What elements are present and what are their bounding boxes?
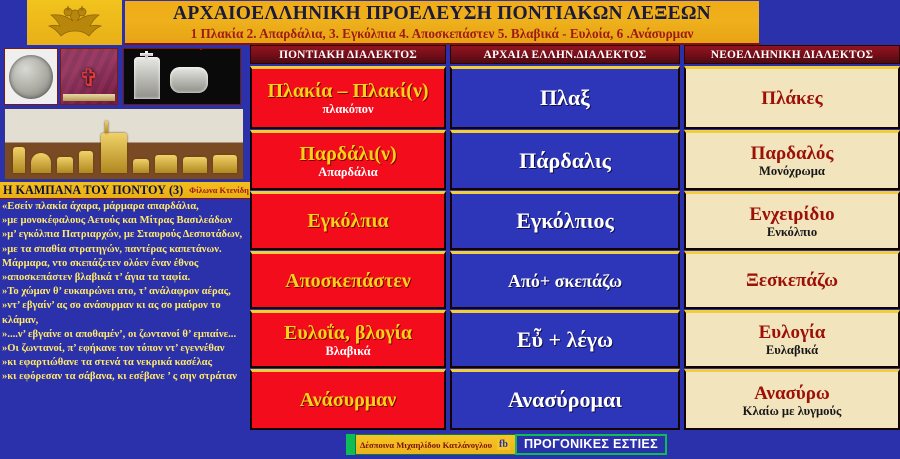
cell-main-term: Ανάσυρμαν [300,389,396,411]
cell-main-term: Ανασύρομαι [508,388,622,412]
table-cell-pontic: Εγκόλπια [250,191,446,250]
poem-author: Φίλωνα Κτενίδη [189,186,249,195]
cell-main-term: Παρδάλι(ν) [299,143,396,165]
table-cell-pontic: Ανάσυρμαν [250,369,446,430]
column-header-ancient-greek: ΑΡΧΑΙΑ ΕΛΛΗΝ.ΔΙΑΛΕΚΤΟΣ [450,45,680,64]
table-cell-pontic: Αποσκεπάστεν [250,251,446,309]
table-cell-ancient-greek: Εὖ + λέγω [450,310,680,368]
poem-line: »με μονοκέφαλους Αετούς και Μίτρας Βασιλ… [2,214,247,228]
relic-object [183,157,207,173]
facebook-icon[interactable]: fb [497,439,510,450]
page-title: ΑΡΧΑΙΟΕΛΛΗΝΙΚΗ ΠΡΟΕΛΕΥΣΗ ΠΟΝΤΙΑΚΩΝ ΛΕΞΕΩ… [125,2,759,25]
table-cell-modern-greek: Πλάκες [684,66,900,129]
table-cell-pontic: Παρδάλι(ν)Απαρδάλια [250,130,446,190]
cross-finial [105,121,108,133]
cell-main-term: Παρδαλός [751,143,834,164]
cell-sub-term: Ενκόλπιο [767,225,817,239]
poem-line: »ντ’ εβγαίν’ ας σο ανάσυρμαν κι ας σο μα… [2,299,247,327]
cell-sub-term: Ευλαβικά [766,343,818,357]
poem-title: Η ΚΑΜΠΑΝΑ ΤΟΥ ΠΟΝΤΟΥ (3) [3,183,183,198]
cell-main-term: Από+ σκεπάζω [508,269,622,293]
poem-header: Η ΚΑΜΠΑΝΑ ΤΟΥ ΠΟΝΤΟΥ (3) Φίλωνα Κτενίδη [0,182,250,199]
table-cell-modern-greek: ΠαρδαλόςΜονόχρωμα [684,130,900,190]
cell-sub-term: πλακόπον [322,102,373,116]
footer-bar: Δέσποινα Μιχαηλίδου Κατλάνογλου fb ΠΡΟΓΟ… [355,434,645,455]
poem-line: «Εσείν πλακία άχαρα, μάρμαρα απαρδάλια, [2,200,247,214]
cell-main-term: Ανασύρω [754,383,830,404]
table-cell-pontic: Πλακία – Πλακί(ν)πλακόπον [250,66,446,129]
cell-main-term: Ενχειρίδιο [749,204,834,225]
poem-line: »με τα σπαθία στρατηγών, παντέρας καπετά… [2,243,247,271]
coin-disc [9,55,53,99]
photo-collage: ✞ [0,0,122,182]
silver-reliquaries-photo [123,48,241,105]
table-cell-modern-greek: ΑνασύρωΚλαίω με λυγμούς [684,369,900,430]
cell-main-term: Ευλογία [759,322,826,343]
relic-object [31,153,51,173]
relic-object [13,147,25,173]
cell-main-term: Πάρδαλις [519,149,611,173]
title-banner: ΑΡΧΑΙΟΕΛΛΗΝΙΚΗ ΠΡΟΕΛΕΥΣΗ ΠΟΝΤΙΑΚΩΝ ΛΕΞΕΩ… [122,1,762,45]
cell-main-term: Εγκόλπιος [516,209,614,233]
column-pontic: ΠΟΝΤΙΑΚΗ ΔΙΑΛΕΚΤΟΣ Πλακία – Πλακί(ν)πλακ… [250,45,446,431]
double-headed-eagle-photo [27,0,122,45]
cell-main-term: Εὖ + λέγω [517,328,613,352]
poem-line: »μ’ εγκόλπια Πατριαρχών, με Σταυρούς Δεσ… [2,228,247,242]
cross-icon: ✞ [79,67,99,91]
column-header-modern-greek: ΝΕΟΕΛΛΗΝΙΚΗ ΔΙΑΛΕΚΤΟΣ [684,45,900,64]
poem-line: »....ν’ εβγαίνε οι αποθαμέν’, οι ζωντανο… [2,328,247,342]
footer-author: Δέσποινα Μιχαηλίδου Κατλάνογλου [360,440,492,450]
poem-line: »αποσκεπάστεν βλαβικά τ’ άγια τα ταφία. [2,271,247,285]
cell-main-term: Πλακία – Πλακί(ν) [267,80,428,102]
relic-object [133,159,149,173]
table-cell-ancient-greek: Από+ σκεπάζω [450,251,680,309]
poem-line: »Το χώμαν θ’ ευκαιρώνει ατο, τ’ ανάλαφρο… [2,285,247,299]
poem-line: »κι εφόρεσαν τα σάβανα, κι εσέβανε ’ ς σ… [2,370,247,384]
poem-line: »κι εφαρτιώθανε τα στενά τα νεκρικά κασέ… [2,356,247,370]
cell-sub-term: Κλαίω με λυγμούς [743,404,842,418]
comparison-table: ΠΟΝΤΙΑΚΗ ΔΙΑΛΕΚΤΟΣ Πλακία – Πλακί(ν)πλακ… [250,45,900,431]
church-treasures-table-photo [4,108,244,180]
table-cell-ancient-greek: Πάρδαλις [450,130,680,190]
poem-body: «Εσείν πλακία άχαρα, μάρμαρα απαρδάλια,»… [2,200,250,456]
column-ancient-greek: ΑΡΧΑΙΑ ΕΛΛΗΝ.ΔΙΑΛΕΚΤΟΣ ΠλαξΠάρδαλιςΕγκόλ… [450,45,680,431]
relic-object [79,151,93,173]
cell-main-term: Ξεσκεπάζω [746,270,838,291]
cell-sub-term: Μονόχρωμα [759,164,825,178]
silver-coin-photo [4,48,58,105]
page-subtitle: 1 Πλακία 2. Απαρδάλια, 3. Εγκόλπια 4. Απ… [125,25,759,42]
red-icon-artwork-photo: ✞ [60,48,118,105]
cell-main-term: Αποσκεπάστεν [285,270,411,292]
enkolpion-pendant-photo [200,48,202,50]
column-modern-greek: ΝΕΟΕΛΛΗΝΙΚΗ ΔΙΑΛΕΚΤΟΣ ΠλάκεςΠαρδαλόςΜονό… [684,45,900,431]
relic-object [213,155,237,173]
cell-sub-term: Απαρδάλια [318,165,377,179]
table-cell-ancient-greek: Ανασύρομαι [450,369,680,430]
poem-line: »Οι ζωντανοί, π’ εφήκανε τον τόπον ντ’ ε… [2,342,247,356]
table-cell-modern-greek: ΕυλογίαΕυλαβικά [684,310,900,368]
relic-object [57,157,73,173]
relic-object [155,155,177,173]
table-cell-ancient-greek: Εγκόλπιος [450,191,680,250]
icon-frame-bar [63,94,115,101]
table-cell-ancient-greek: Πλαξ [450,66,680,129]
cell-main-term: Εγκόλπια [307,210,388,232]
table-cell-modern-greek: ΕνχειρίδιοΕνκόλπιο [684,191,900,250]
table-cell-pontic: Ευλοΐα, βλογίαΒλαβικά [250,310,446,368]
relic-object [101,133,127,173]
cell-main-term: Πλάκες [761,88,822,109]
cell-sub-term: Βλαβικά [325,344,370,358]
cell-main-term: Πλαξ [540,86,590,110]
slide-root: ✞ ΑΡΧΑΙΟΕΛΛΗΝΙΚΗ ΠΡΟΕΛΕΥΣΗ ΠΟΝΤΙΑΚΩΝ ΛΕΞ… [0,0,900,459]
cell-main-term: Ευλοΐα, βλογία [284,322,412,344]
table-cell-modern-greek: Ξεσκεπάζω [684,251,900,309]
footer-page-name[interactable]: ΠΡΟΓΟΝΙΚΕΣ ΕΣΤΙΕΣ [515,434,667,455]
column-header-pontic: ΠΟΝΤΙΑΚΗ ΔΙΑΛΕΚΤΟΣ [250,45,446,64]
